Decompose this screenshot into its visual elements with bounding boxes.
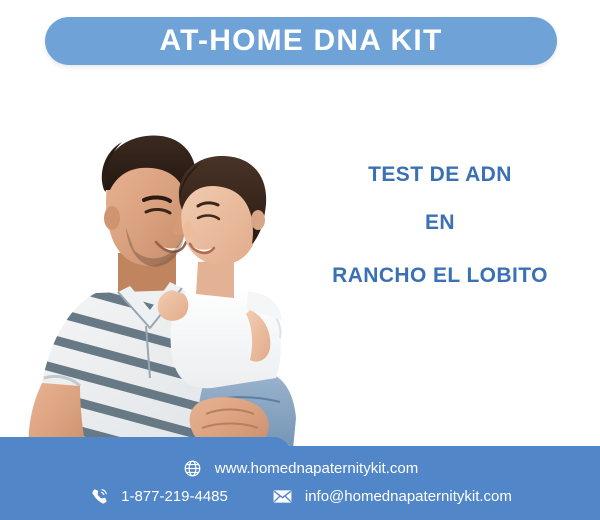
headline-line-3: RANCHO EL LOBITO bbox=[300, 251, 580, 301]
headline-block: TEST DE ADN EN RANCHO EL LOBITO bbox=[300, 155, 580, 301]
footer-website-row: www.homednapaternitykit.com bbox=[0, 457, 600, 479]
phone-label: 1-877-219-4485 bbox=[121, 489, 228, 504]
phone-contact-item[interactable]: 1-877-219-4485 bbox=[88, 485, 228, 507]
phone-icon bbox=[88, 485, 110, 507]
email-contact-item[interactable]: info@homednapaternitykit.com bbox=[272, 485, 512, 507]
globe-icon bbox=[182, 457, 204, 479]
headline-line-2: EN bbox=[300, 195, 580, 251]
website-contact-item[interactable]: www.homednapaternitykit.com bbox=[182, 457, 418, 479]
father-and-child-photo bbox=[0, 78, 330, 460]
footer-content: www.homednapaternitykit.com 1-877-219-44… bbox=[0, 437, 600, 520]
headline-line-1: TEST DE ADN bbox=[300, 155, 580, 195]
page-title: AT-HOME DNA KIT bbox=[160, 26, 443, 56]
email-label: info@homednapaternitykit.com bbox=[305, 489, 512, 504]
footer-phone-email-row: 1-877-219-4485 info@homednapaternitykit.… bbox=[0, 485, 600, 507]
envelope-icon bbox=[272, 485, 294, 507]
contact-footer: www.homednapaternitykit.com 1-877-219-44… bbox=[0, 437, 600, 520]
dna-kit-promo-card: AT-HOME DNA KIT bbox=[0, 0, 600, 520]
website-label: www.homednapaternitykit.com bbox=[215, 461, 418, 476]
title-pill-banner: AT-HOME DNA KIT bbox=[45, 17, 557, 65]
